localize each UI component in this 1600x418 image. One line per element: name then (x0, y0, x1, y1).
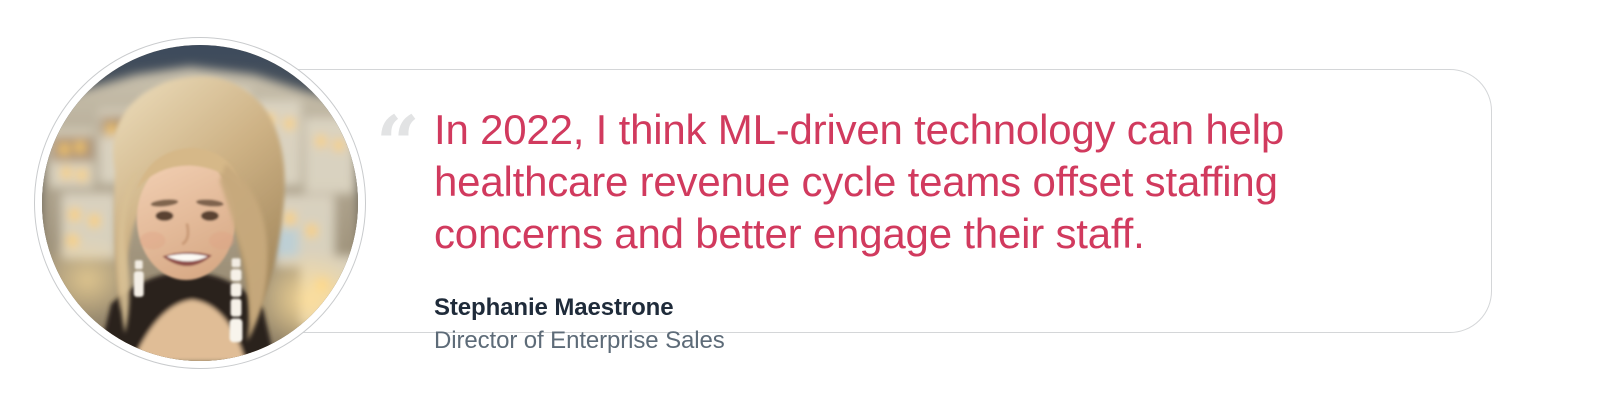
attribution: Stephanie Maestrone Director of Enterpri… (434, 292, 725, 358)
avatar (34, 37, 366, 369)
quote-text: In 2022, I think ML-driven technology ca… (434, 104, 1434, 260)
author-name: Stephanie Maestrone (434, 292, 725, 324)
quote-mark-icon: “ (376, 106, 418, 182)
quote-block: “ In 2022, I think ML-driven technology … (434, 104, 1434, 260)
testimonial-section: “ In 2022, I think ML-driven technology … (0, 0, 1600, 418)
portrait-illustration (42, 45, 358, 361)
avatar-photo (42, 45, 358, 361)
author-title: Director of Enterprise Sales (434, 324, 725, 358)
